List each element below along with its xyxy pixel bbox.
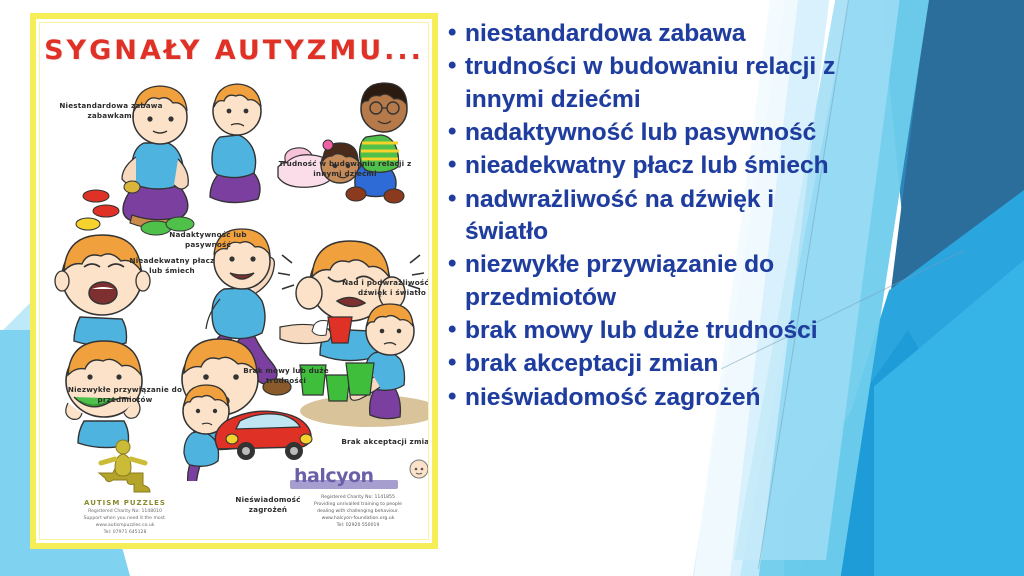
poster-inner-frame: SYGNAŁY AUTYZMU... [39, 22, 429, 540]
autism-puzzles-name: AUTISM PUZZLES [66, 499, 184, 507]
bullet-item: nieadekwatny płacz lub śmiech [446, 150, 866, 182]
caption-brak-mowy: Brak mowy lub duże trudności [236, 366, 336, 387]
autism-puzzles-details: Registered Charity No: 1148010 Support w… [66, 509, 184, 537]
bullet-item: niezwykłe przywiązanie do przedmiotów [446, 249, 866, 314]
autism-signals-poster: SYGNAŁY AUTYZMU... [30, 13, 438, 549]
slide-canvas: SYGNAŁY AUTYZMU... [0, 0, 1024, 576]
figure-boy-sitting-alone [210, 84, 261, 203]
caption-przywiazanie: Niezwykłe przywiązanie do przedmiotów [60, 385, 190, 406]
halcyon-baby-icon [408, 459, 429, 483]
caption-niestandardowa-zabawa: Niestandardowa zabawa zabawkami [56, 101, 166, 122]
symptom-bullet-list: niestandardowa zabawa trudności w budowa… [446, 18, 866, 415]
poster-title: SYGNAŁY AUTYZMU... [40, 35, 428, 66]
bullet-item: niestandardowa zabawa [446, 18, 866, 50]
logo-autism-puzzles: AUTISM PUZZLES Registered Charity No: 11… [66, 437, 184, 537]
facet-shape-bright-blue [874, 260, 1024, 576]
autism-puzzles-icon [89, 437, 161, 499]
caption-nadwrazliwosc: Nad i podwrażliwość na dźwięk i światło [331, 278, 429, 299]
halcyon-name: halcyon [294, 465, 374, 487]
logo-halcyon: halcyon Registered Charity No: 1141855 P… [288, 461, 428, 529]
figure-crying-boy [55, 235, 150, 346]
caption-nieadekwatny-placz: Nieadekwatny płacz lub śmiech [126, 256, 218, 277]
halcyon-details: Registered Charity No: 1141855 Providing… [288, 495, 428, 529]
bullet-item: nieświadomość zagrożeń [446, 382, 866, 414]
bullet-item: nadwrażliwość na dźwięk i światło [446, 184, 866, 249]
bullet-item: trudności w budowaniu relacji z innymi d… [446, 51, 866, 116]
caption-brak-akceptacji: Brak akceptacji zmian [328, 437, 429, 447]
bullet-item: brak mowy lub duże trudności [446, 315, 866, 347]
caption-trudnosc-relacje: Trudność w budowaniu relacji z innymi dz… [270, 159, 420, 180]
bullet-item: nadaktywność lub pasywność [446, 117, 866, 149]
figure-children-playing [278, 83, 407, 203]
facet-shape-dark-top-right [904, 0, 1024, 300]
caption-nadaktywnosc: Nadaktywność lub pasywność [163, 230, 253, 251]
bullet-item: brak akceptacji zmian [446, 348, 866, 380]
